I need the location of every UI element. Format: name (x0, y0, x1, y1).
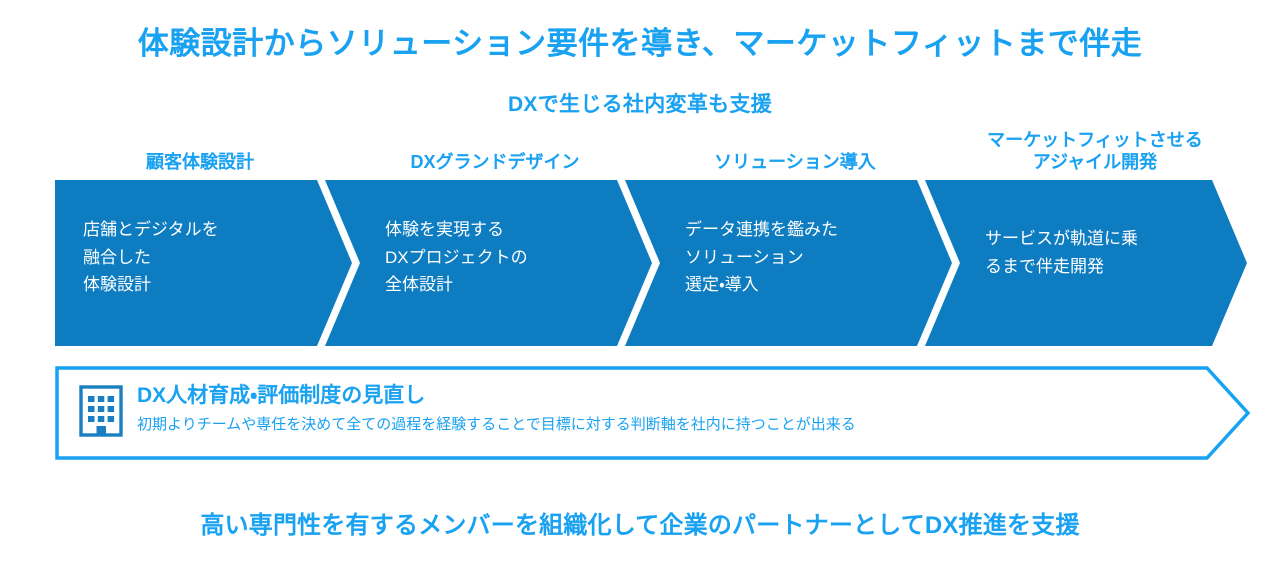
banner-heading: DX人材育成・評価制度の見直し (137, 382, 856, 409)
step-header-3: ソリューション導入 (645, 152, 945, 174)
diagram-canvas: 体験設計からソリューション要件を導き、マーケットフィットまで伴走 DXで生じる社… (0, 0, 1280, 565)
step-header-2: DXグランドデザイン (345, 152, 645, 174)
banner-content: DX人材育成・評価制度の見直し 初期よりチームや専任を決めて全ての過程を経験する… (79, 376, 856, 437)
banner-subtext: 初期よりチームや専任を決めて全ての過程を経験することで目標に対する判断軸を社内に… (137, 415, 856, 435)
step-header-row: 顧客体験設計 DXグランドデザイン ソリューション導入 マーケットフィットさせる… (55, 126, 1250, 178)
chevron-text-4: サービスが軌道に乗 るまで伴走開発 (985, 180, 1200, 280)
chevron-text-1: 店舗とデジタルを 融合した 体験設計 (83, 180, 333, 299)
footer-title: 高い専門性を有するメンバーを組織化して企業のパートナーとしてDX推進を支援 (0, 505, 1280, 540)
chevron-text-3: データ連携を鑑みた ソリューション 選定・導入 (685, 180, 935, 299)
step-header-1: 顧客体験設計 (55, 152, 345, 174)
step-header-4: マーケットフィットさせる アジャイル開発 (945, 130, 1245, 174)
main-title: 体験設計からソリューション要件を導き、マーケットフィットまで伴走 (0, 18, 1280, 63)
chevron-text-2: 体験を実現する DXプロジェクトの 全体設計 (385, 180, 635, 299)
process-chevron-band: 店舗とデジタルを 融合した 体験設計 体験を実現する DXプロジェクトの 全体設… (55, 180, 1250, 346)
banner-text-block: DX人材育成・評価制度の見直し 初期よりチームや専任を決めて全ての過程を経験する… (137, 376, 856, 436)
sub-title: DXで生じる社内変革も支援 (0, 88, 1280, 118)
building-icon (79, 385, 123, 437)
hr-initiative-banner: DX人材育成・評価制度の見直し 初期よりチームや専任を決めて全ての過程を経験する… (55, 366, 1251, 460)
